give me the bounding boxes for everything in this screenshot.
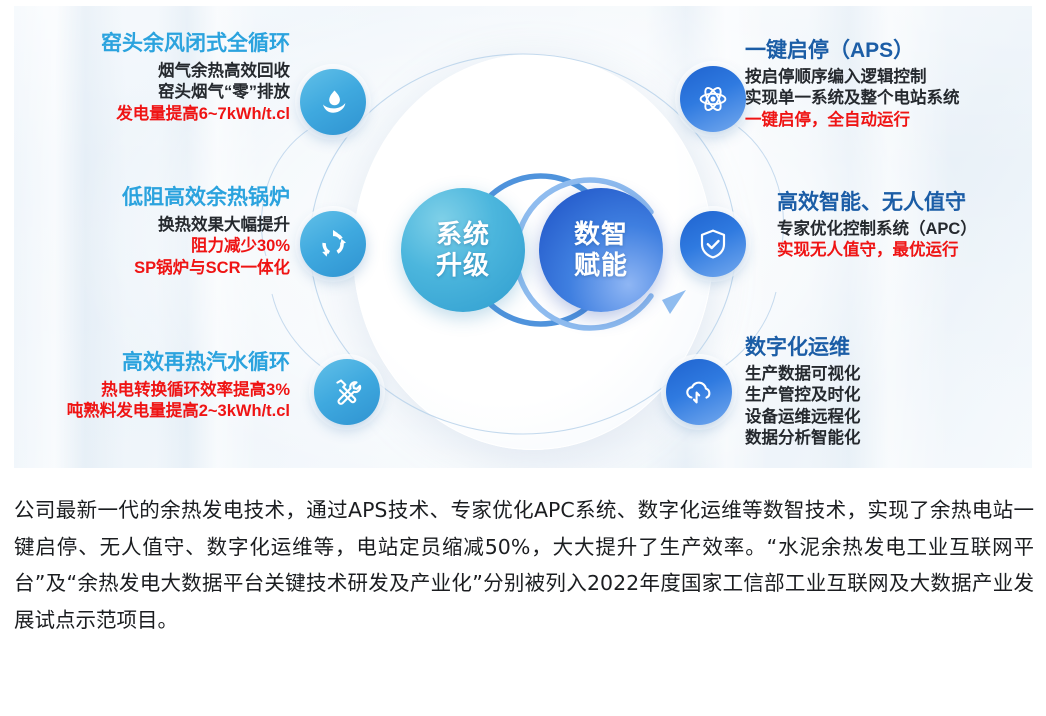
cycle-arrow-head-right: [662, 290, 686, 314]
feature-block-left-2: 低阻高效余热锅炉 换热效果大幅提升 阻力减少30% SP锅炉与SCR一体化: [44, 186, 290, 279]
recycle-icon: [315, 226, 351, 262]
shield-check-icon: [695, 226, 731, 262]
feature-line: 换热效果大幅提升: [44, 215, 290, 236]
feature-line: 生产管控及时化: [745, 385, 1025, 406]
feature-line: 窑头烟气“零”排放: [44, 82, 290, 103]
recycle-icon-bubble[interactable]: [300, 211, 366, 277]
wind-recovery-icon: [315, 84, 351, 120]
description-paragraph: 公司最新一代的余热发电技术，通过APS技术、专家优化APC系统、数字化运维等数智…: [14, 492, 1034, 638]
feature-heading: 数字化运维: [745, 336, 1025, 361]
feature-block-left-1: 窑头余风闭式全循环 烟气余热高效回收 窑头烟气“零”排放 发电量提高6~7kWh…: [44, 32, 290, 125]
paragraph-text: 公司最新一代的余热发电技术，通过APS技术、专家优化APC系统、数字化运维等数智…: [14, 492, 1034, 638]
feature-block-right-1: 一键启停（APS） 按启停顺序编入逻辑控制 实现单一系统及整个电站系统 一键启停…: [745, 39, 1032, 131]
feature-line: 设备运维远程化: [745, 407, 1025, 428]
feature-heading: 一键启停（APS）: [745, 39, 1032, 64]
feature-line: 数据分析智能化: [745, 428, 1025, 449]
core-right-line1: 数智: [574, 219, 628, 250]
feature-line-highlight: 实现无人值守，最优运行: [777, 240, 1032, 261]
digital-intelligence-circle[interactable]: 数智 赋能: [539, 188, 663, 312]
tools-icon-bubble[interactable]: [314, 359, 380, 425]
atom-icon: [695, 81, 731, 117]
cloud-sync-icon-bubble[interactable]: [666, 359, 732, 425]
feature-line-highlight: SP锅炉与SCR一体化: [44, 258, 290, 279]
feature-line-highlight: 热电转换循环效率提高3%: [34, 380, 290, 401]
feature-line: 专家优化控制系统（APC）: [777, 219, 1032, 240]
feature-heading: 低阻高效余热锅炉: [44, 186, 290, 211]
wind-recovery-icon-bubble[interactable]: [300, 69, 366, 135]
tools-icon: [329, 374, 365, 410]
shield-check-icon-bubble[interactable]: [680, 211, 746, 277]
feature-heading: 高效智能、无人值守: [777, 191, 1032, 216]
feature-line-highlight: 吨熟料发电量提高2~3kWh/t.cl: [34, 401, 290, 422]
infographic-panel: 窑头余风闭式全循环 烟气余热高效回收 窑头烟气“零”排放 发电量提高6~7kWh…: [14, 6, 1032, 468]
feature-line: 生产数据可视化: [745, 364, 1025, 385]
feature-line: 烟气余热高效回收: [44, 61, 290, 82]
core-left-line1: 系统: [436, 219, 490, 250]
core-left-line2: 升级: [436, 250, 490, 281]
system-upgrade-circle[interactable]: 系统 升级: [401, 188, 525, 312]
feature-block-right-2: 高效智能、无人值守 专家优化控制系统（APC） 实现无人值守，最优运行: [777, 191, 1032, 262]
feature-line-highlight: 发电量提高6~7kWh/t.cl: [44, 104, 290, 125]
feature-line: 实现单一系统及整个电站系统: [745, 88, 1032, 109]
core-right-line2: 赋能: [574, 250, 628, 281]
feature-heading: 高效再热汽水循环: [34, 351, 290, 376]
feature-block-left-3: 高效再热汽水循环 热电转换循环效率提高3% 吨熟料发电量提高2~3kWh/t.c…: [34, 351, 290, 423]
feature-line-highlight: 一键启停，全自动运行: [745, 110, 1032, 131]
atom-icon-bubble[interactable]: [680, 66, 746, 132]
feature-heading: 窑头余风闭式全循环: [44, 32, 290, 57]
feature-line-highlight: 阻力减少30%: [44, 236, 290, 257]
cloud-sync-icon: [681, 374, 717, 410]
feature-line: 按启停顺序编入逻辑控制: [745, 67, 1032, 88]
feature-block-right-3: 数字化运维 生产数据可视化 生产管控及时化 设备运维远程化 数据分析智能化: [745, 336, 1025, 450]
